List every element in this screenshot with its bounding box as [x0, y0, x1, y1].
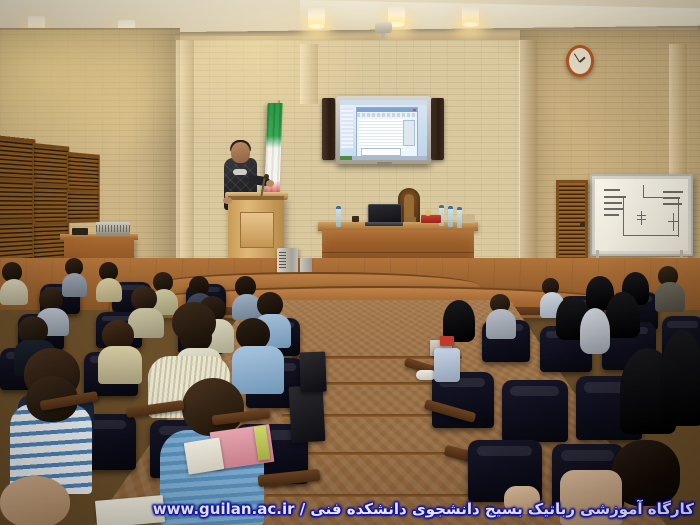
acoustic-panel	[32, 183, 69, 226]
person-head	[172, 302, 216, 342]
screen-side-panel	[403, 120, 415, 146]
display-mount	[377, 162, 392, 166]
whiteboard-text	[604, 214, 619, 216]
wall-pilaster	[519, 40, 537, 272]
acoustic-panel	[67, 152, 100, 194]
acoustic-panel	[0, 135, 35, 183]
acoustic-panel	[67, 189, 100, 223]
whiteboard-text	[604, 202, 622, 204]
watermark-caption: کارگاه آموزشی رباتیک بسیج دانشجوی دانشکد…	[0, 500, 700, 518]
table-seam	[322, 252, 474, 253]
briefcase	[299, 352, 326, 393]
whiteboard-diagram-line	[673, 213, 674, 231]
person-headscarf	[580, 308, 610, 354]
person-chador	[606, 292, 640, 338]
equipment-unit	[72, 228, 88, 235]
lecture-hall-photo: کارگاه آموزشی رباتیک بسیج دانشجوی دانشکد…	[0, 0, 700, 525]
screen-start-button	[340, 156, 352, 160]
whiteboard-text	[663, 197, 680, 199]
person-torso	[62, 273, 87, 297]
red-item	[440, 336, 454, 346]
screen-toolbar	[357, 113, 417, 117]
presenter-hand	[223, 197, 232, 204]
computer-tower-vents	[279, 252, 286, 268]
person-chador	[660, 330, 700, 426]
watermark-url: www.guilan.ac.ir /	[153, 500, 305, 518]
whiteboard-surface	[595, 179, 688, 251]
table-object	[425, 210, 431, 216]
whiteboard-text	[604, 208, 624, 210]
seat-highlight	[667, 321, 698, 329]
seat-highlight	[477, 446, 532, 456]
acoustic-panel	[32, 143, 69, 188]
person-torso	[0, 279, 28, 305]
screen-titlebar	[357, 108, 417, 112]
wall-pilaster	[176, 40, 194, 272]
person-torso	[96, 278, 122, 302]
presenter-head	[231, 142, 250, 163]
screen-spreadsheet-grid	[359, 119, 405, 151]
acoustic-panel	[0, 177, 35, 223]
downlight-icon	[308, 8, 325, 28]
water-bottle	[336, 206, 341, 227]
whiteboard-diagram-line	[643, 185, 644, 197]
whiteboard-diagram-line	[623, 235, 679, 236]
whiteboard-diagram-line	[637, 215, 646, 216]
audio-amplifier	[96, 222, 130, 235]
wall-clock-icon	[566, 45, 594, 77]
wall-pilaster	[300, 44, 318, 104]
briefcase	[289, 385, 326, 443]
jacket-on-seat	[434, 348, 460, 382]
notebook-pages	[184, 437, 225, 474]
auditorium-seat[interactable]	[502, 380, 568, 442]
red-box-object	[421, 215, 441, 223]
door-knob-icon[interactable]	[580, 222, 585, 227]
display-speaker-left	[322, 98, 335, 160]
whiteboard	[590, 174, 693, 256]
watermark-text-fa: کارگاه آموزشی رباتیک بسیج دانشجوی دانشکد…	[310, 500, 694, 518]
whiteboard-text	[604, 196, 626, 198]
display-assembly	[322, 96, 444, 164]
whiteboard-text	[604, 189, 620, 191]
display-speaker-right	[431, 98, 444, 160]
screen-status-box	[361, 148, 401, 156]
whiteboard-text	[663, 191, 683, 193]
person-head	[182, 378, 244, 436]
lectern-panel	[240, 212, 274, 248]
whiteboard-diagram-line	[623, 197, 624, 235]
display-screen	[340, 100, 427, 160]
seat-highlight	[561, 450, 614, 460]
microphone-icon	[264, 174, 269, 179]
whiteboard-text	[663, 203, 682, 205]
presenter-hand	[266, 180, 274, 187]
laptop-keyboard	[365, 222, 403, 226]
shoe	[416, 370, 436, 380]
seat-highlight	[510, 386, 559, 396]
person-torso	[655, 282, 685, 312]
whiteboard-diagram-line	[668, 221, 678, 222]
person-head	[612, 440, 680, 506]
screen-menubar	[340, 100, 427, 105]
table-object	[352, 216, 359, 222]
table-object	[462, 214, 475, 223]
clock-hour-hand	[579, 57, 585, 63]
clock-minute-hand	[574, 53, 580, 62]
person-torso	[232, 346, 284, 394]
display-bezel	[336, 96, 431, 164]
person-torso	[486, 309, 516, 339]
screen-taskbar	[340, 156, 427, 160]
screen-app-window	[356, 107, 418, 159]
table-object	[404, 217, 416, 222]
amplifier-vents	[96, 225, 130, 232]
person-torso	[98, 346, 142, 384]
water-bottle	[448, 206, 453, 227]
ceiling-pendant-icon	[375, 22, 392, 33]
screen-left-pane	[341, 108, 353, 148]
presenter-collar	[233, 169, 247, 175]
whiteboard-diagram-line	[641, 211, 642, 225]
whiteboard-diagram-line	[637, 219, 646, 220]
downlight-icon	[462, 6, 479, 26]
